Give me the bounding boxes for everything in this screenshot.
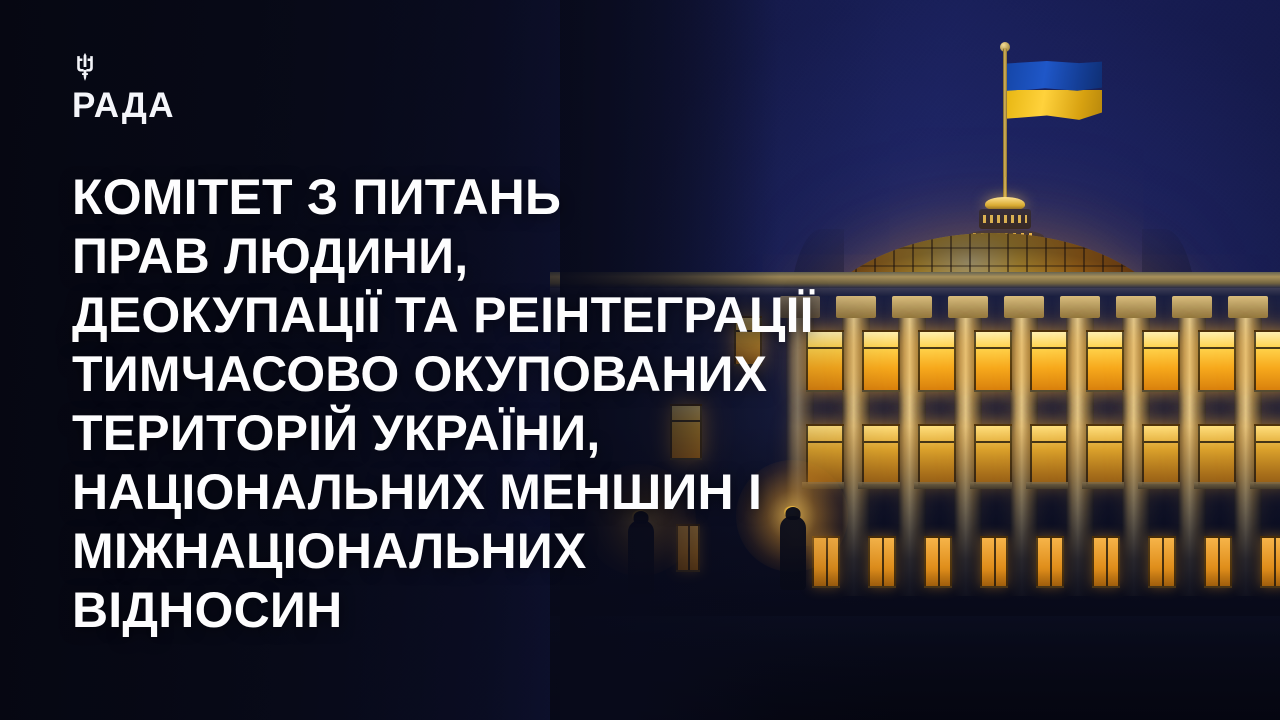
brand-lockup: РАДА [72,52,175,123]
slide-canvas: РАДА КОМІТЕТ З ПИТАНЬ ПРАВ ЛЮДИНИ, ДЕОКУ… [0,0,1280,720]
title-line: ДЕОКУПАЦІЇ ТА РЕІНТЕГРАЦІЇ [72,286,972,345]
brand-wordmark: РАДА [72,88,175,123]
title-line: МІЖНАЦІОНАЛЬНИХ [72,522,972,581]
title-line: КОМІТЕТ З ПИТАНЬ [72,168,972,227]
ukraine-trident-icon [72,52,98,82]
title-line: ВІДНОСИН [72,581,972,640]
title-line: ТИМЧАСОВО ОКУПОВАНИХ [72,345,972,404]
title-line: ТЕРИТОРІЙ УКРАЇНИ, [72,404,972,463]
title-line: НАЦІОНАЛЬНИХ МЕНШИН І [72,463,972,522]
title-line: ПРАВ ЛЮДИНИ, [72,227,972,286]
page-title: КОМІТЕТ З ПИТАНЬ ПРАВ ЛЮДИНИ, ДЕОКУПАЦІЇ… [72,168,972,640]
